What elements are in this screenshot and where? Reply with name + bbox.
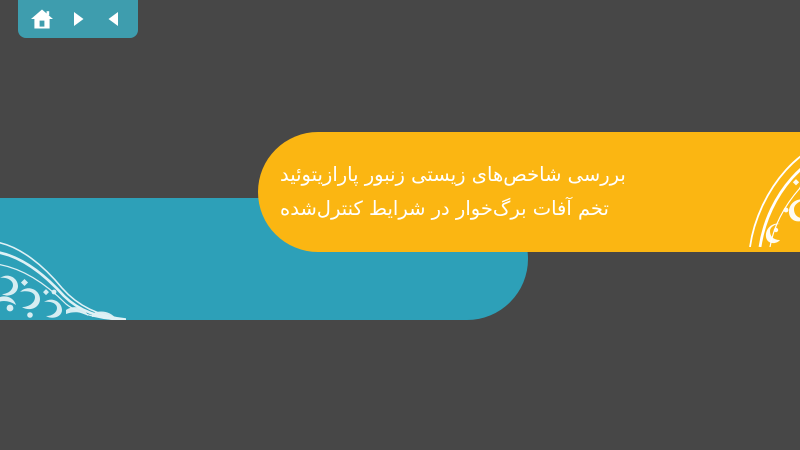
- previous-slide-button[interactable]: [99, 4, 129, 34]
- triangle-right-icon: [68, 9, 88, 29]
- next-slide-button[interactable]: [63, 4, 93, 34]
- arabesque-islimi-ornament: [0, 220, 126, 320]
- home-button[interactable]: [27, 4, 57, 34]
- title-line-2: تخم آفات برگ‌خوار در شرایط کنترل‌شده: [280, 192, 609, 226]
- home-icon: [30, 8, 54, 30]
- slide-navigation-bar: [18, 0, 138, 38]
- presentation-slide: بررسی شاخص‌های زیستی زنبور پارازیتوئید ت…: [0, 0, 800, 450]
- triangle-left-icon: [104, 9, 124, 29]
- title-line-1: بررسی شاخص‌های زیستی زنبور پارازیتوئید: [280, 158, 626, 192]
- slide-title: بررسی شاخص‌های زیستی زنبور پارازیتوئید ت…: [280, 136, 720, 248]
- arabesque-islimi-ornament: [720, 132, 800, 247]
